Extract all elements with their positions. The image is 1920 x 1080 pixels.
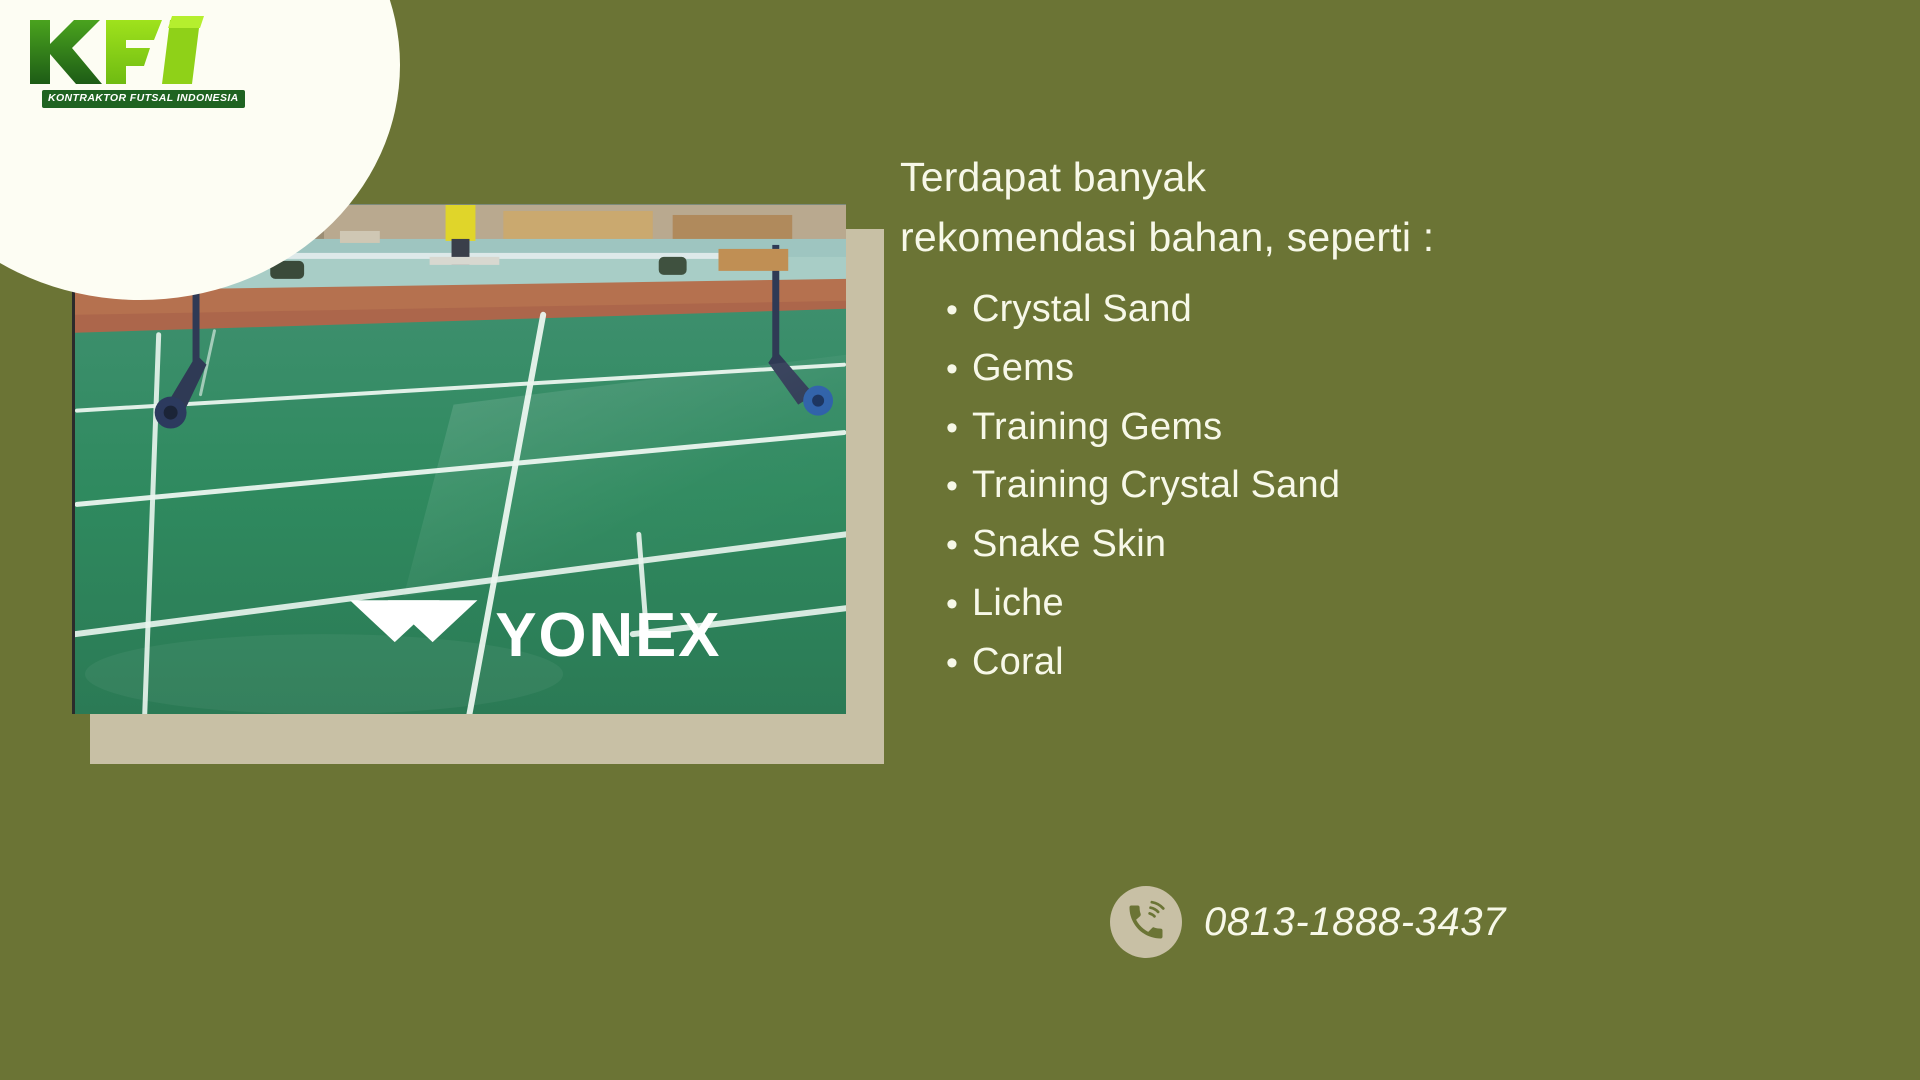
list-item-label: Training Gems xyxy=(972,398,1222,457)
page-title: Terdapat banyak rekomendasi bahan, seper… xyxy=(900,148,1520,268)
svg-text:YONEX: YONEX xyxy=(495,601,721,670)
list-item: • Liche xyxy=(946,574,1860,633)
headline-line-2: rekomendasi bahan, seperti : xyxy=(900,214,1434,260)
list-item-label: Snake Skin xyxy=(972,515,1166,574)
bullet-icon: • xyxy=(946,293,972,327)
materials-list: • Crystal Sand • Gems • Training Gems • … xyxy=(900,280,1860,692)
phone-call-glyph xyxy=(1124,900,1168,944)
bullet-icon: • xyxy=(946,646,972,680)
list-item-label: Liche xyxy=(972,574,1064,633)
list-item: • Crystal Sand xyxy=(946,280,1860,339)
list-item-label: Crystal Sand xyxy=(972,280,1192,339)
list-item: • Coral xyxy=(946,633,1860,692)
logo-tagline-text: KONTRAKTOR FUTSAL INDONESIA xyxy=(48,93,239,104)
bullet-icon: • xyxy=(946,528,972,562)
brand-logo[interactable]: KONTRAKTOR FUTSAL INDONESIA xyxy=(22,14,242,114)
content-column: Terdapat banyak rekomendasi bahan, seper… xyxy=(900,148,1860,692)
list-item: • Training Crystal Sand xyxy=(946,456,1860,515)
bullet-icon: • xyxy=(946,411,972,445)
bullet-icon: • xyxy=(946,587,972,621)
kfi-logo-mark xyxy=(22,14,222,92)
list-item-label: Gems xyxy=(972,339,1074,398)
contact-row[interactable]: 0813-1888-3437 xyxy=(1110,886,1506,958)
phone-call-icon[interactable] xyxy=(1110,886,1182,958)
list-item-label: Training Crystal Sand xyxy=(972,456,1340,515)
bullet-icon: • xyxy=(946,352,972,386)
phone-number-text[interactable]: 0813-1888-3437 xyxy=(1204,900,1506,945)
bullet-icon: • xyxy=(946,469,972,503)
logo-tagline: KONTRAKTOR FUTSAL INDONESIA xyxy=(42,90,245,108)
headline-line-1: Terdapat banyak xyxy=(900,154,1206,200)
list-item: • Training Gems xyxy=(946,398,1860,457)
list-item: • Gems xyxy=(946,339,1860,398)
list-item-label: Coral xyxy=(972,633,1064,692)
list-item: • Snake Skin xyxy=(946,515,1860,574)
